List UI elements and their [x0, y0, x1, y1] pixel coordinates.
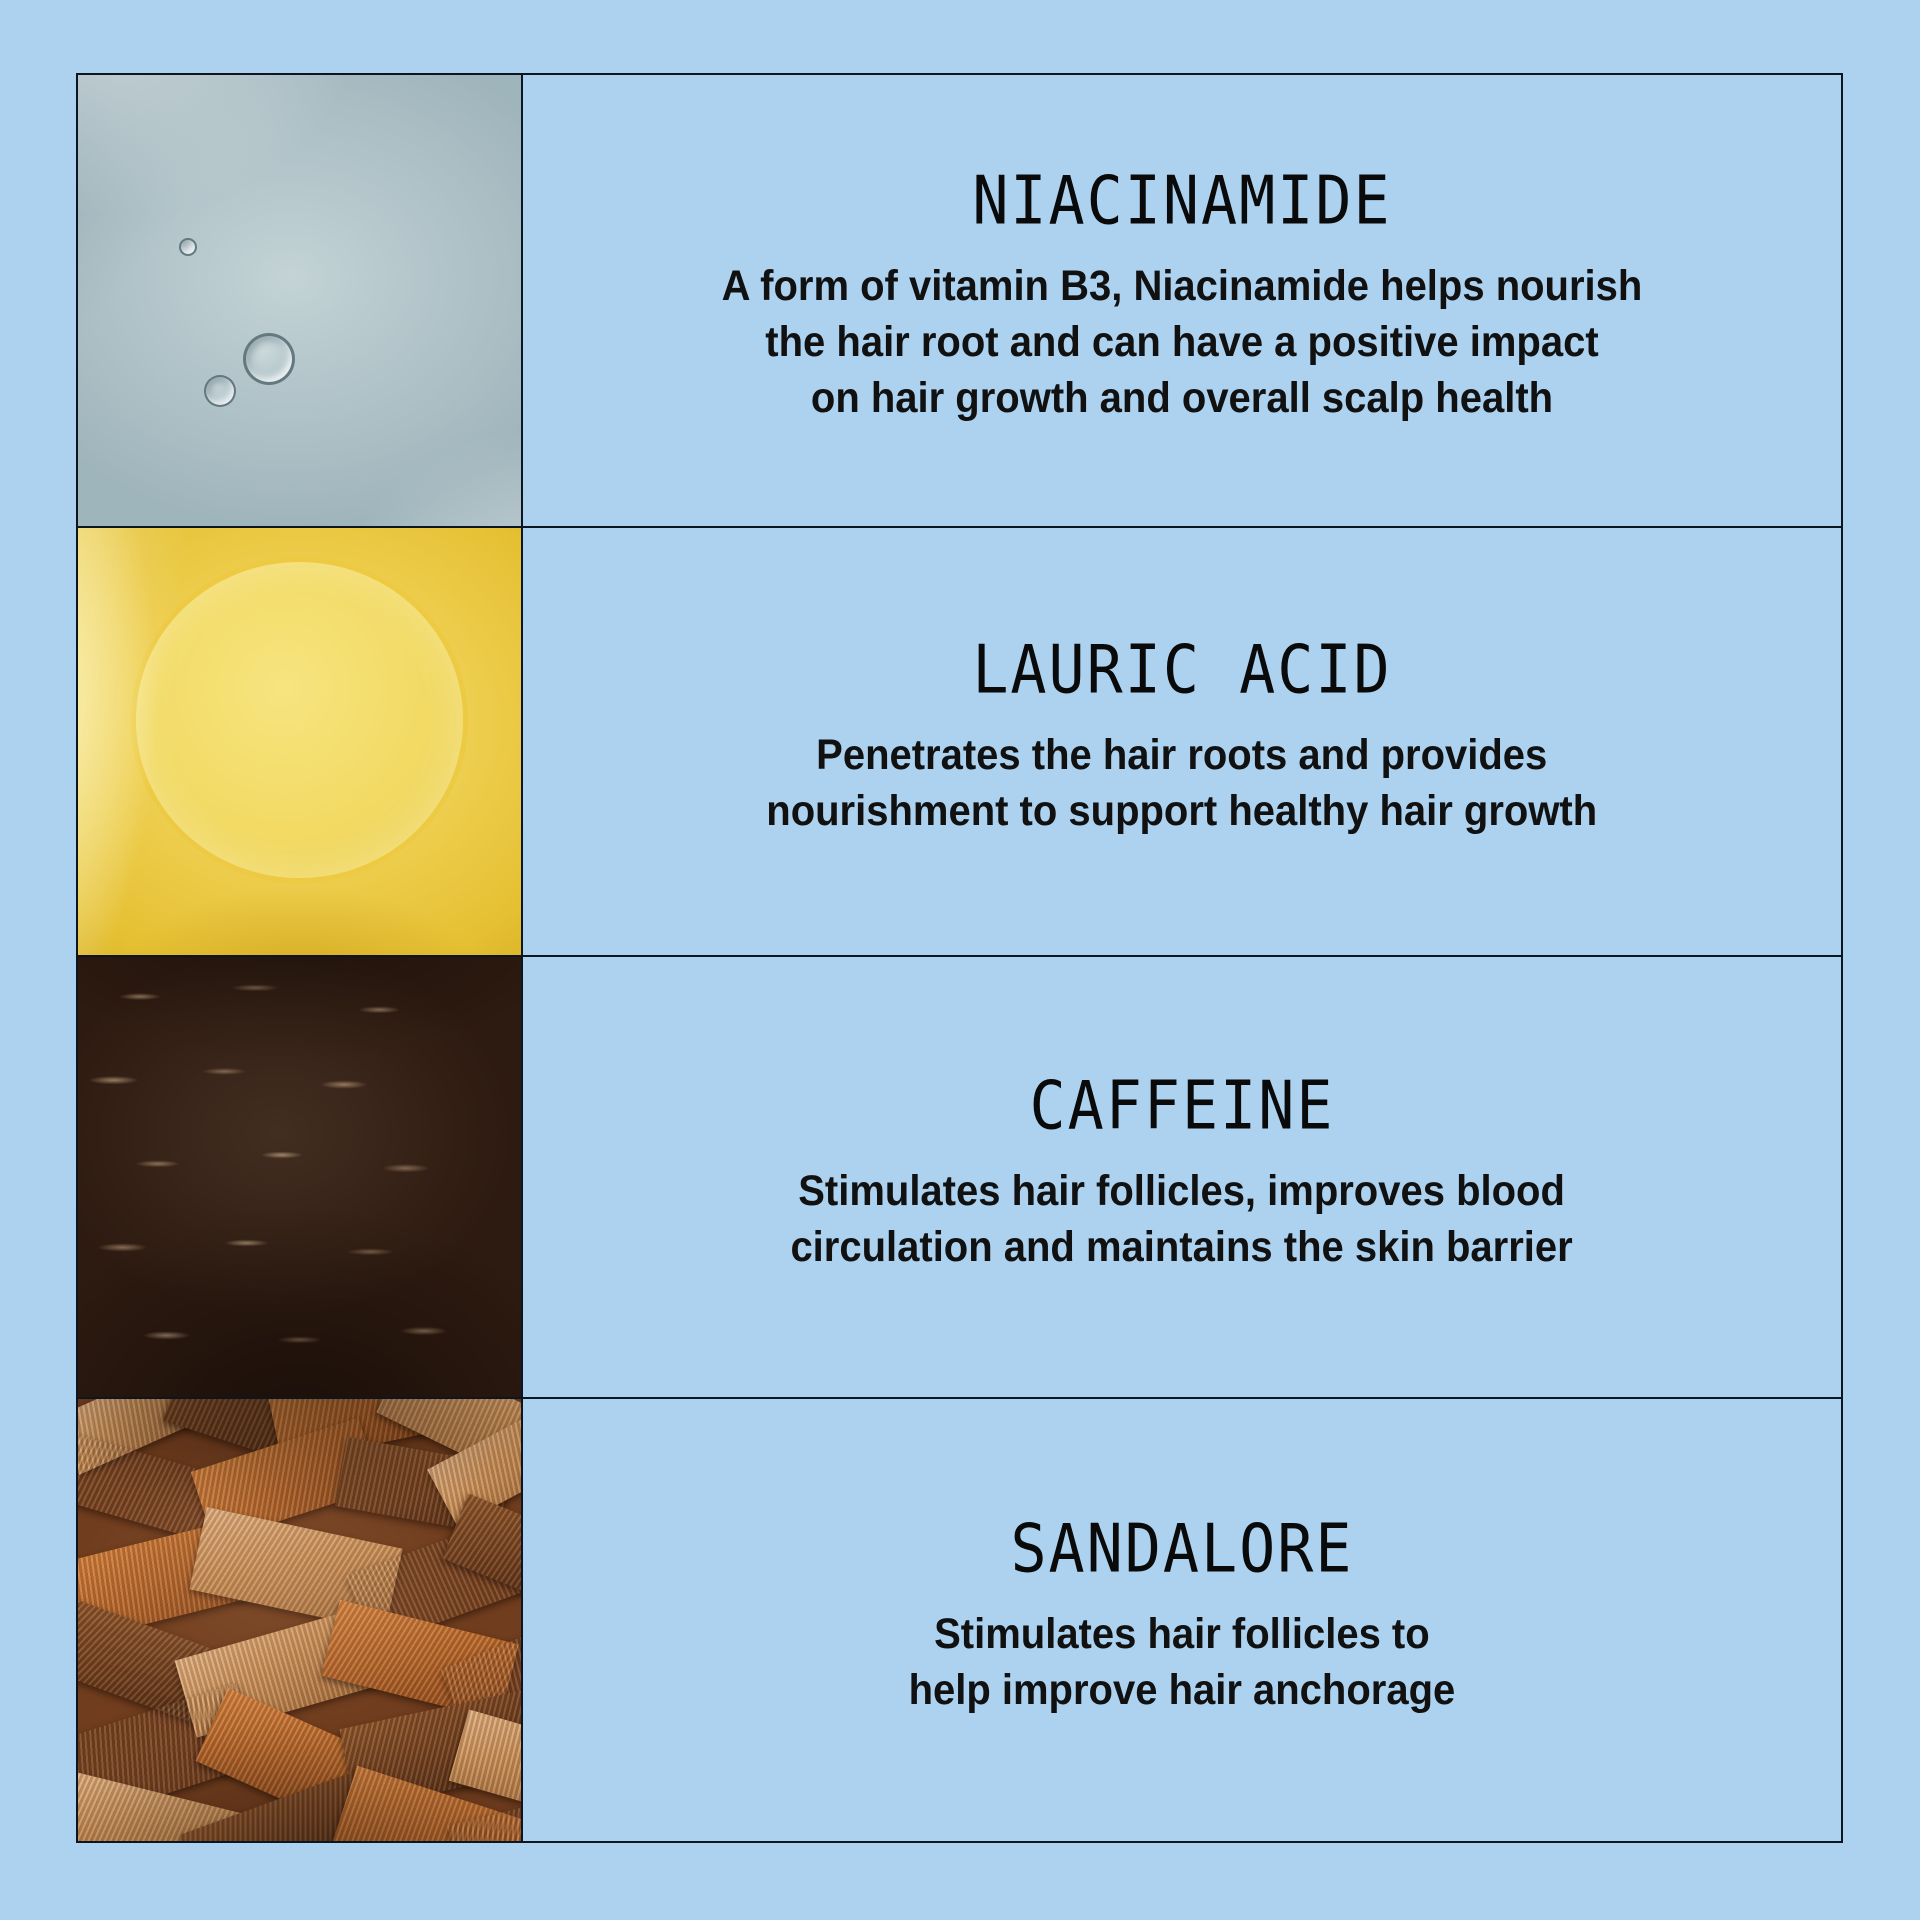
description-line: help improve hair anchorage: [909, 1663, 1456, 1719]
ingredient-title: CAFFEINE: [1030, 1071, 1335, 1142]
description-line: the hair root and can have a positive im…: [722, 315, 1643, 371]
ingredient-image-cell: [78, 528, 523, 955]
caffeine-coffee-beans-photo: [78, 957, 521, 1397]
ingredient-text-cell: SANDALORE Stimulates hair follicles to h…: [523, 1399, 1841, 1841]
ingredient-text-cell: LAURIC ACID Penetrates the hair roots an…: [523, 528, 1841, 955]
description-line: Stimulates hair follicles to: [909, 1607, 1456, 1663]
niacinamide-liquid-photo: [78, 75, 521, 526]
description-line: Penetrates the hair roots and provides: [767, 728, 1598, 784]
sandalore-sandalwood-chips-photo: [78, 1399, 521, 1841]
ingredient-row-lauric-acid: LAURIC ACID Penetrates the hair roots an…: [78, 528, 1841, 957]
description-line: on hair growth and overall scalp health: [722, 371, 1643, 427]
ingredient-title: LAURIC ACID: [972, 635, 1391, 706]
ingredient-description: Penetrates the hair roots and provides n…: [767, 728, 1598, 840]
ingredient-text-cell: NIACINAMIDE A form of vitamin B3, Niacin…: [523, 75, 1841, 526]
description-line: Stimulates hair follicles, improves bloo…: [791, 1164, 1573, 1220]
description-line: circulation and maintains the skin barri…: [791, 1220, 1573, 1276]
ingredient-description: Stimulates hair follicles, improves bloo…: [791, 1164, 1573, 1276]
lauric-acid-oil-photo: [78, 528, 521, 955]
ingredient-table: NIACINAMIDE A form of vitamin B3, Niacin…: [76, 73, 1843, 1843]
ingredient-description: Stimulates hair follicles to help improv…: [909, 1607, 1456, 1719]
ingredient-title: NIACINAMIDE: [972, 166, 1391, 237]
ingredient-image-cell: [78, 75, 523, 526]
ingredient-row-sandalore: SANDALORE Stimulates hair follicles to h…: [78, 1399, 1841, 1841]
bubble-icon: [243, 333, 295, 385]
description-line: A form of vitamin B3, Niacinamide helps …: [722, 259, 1643, 315]
ingredient-row-caffeine: CAFFEINE Stimulates hair follicles, impr…: [78, 957, 1841, 1399]
ingredient-image-cell: [78, 957, 523, 1397]
ingredient-description: A form of vitamin B3, Niacinamide helps …: [722, 259, 1643, 427]
ingredient-benefits-infographic: NIACINAMIDE A form of vitamin B3, Niacin…: [0, 0, 1920, 1920]
description-line: nourishment to support healthy hair grow…: [767, 784, 1598, 840]
ingredient-image-cell: [78, 1399, 523, 1841]
bubble-icon: [204, 375, 236, 407]
bubble-icon: [179, 238, 197, 256]
ingredient-title: SANDALORE: [1010, 1514, 1353, 1585]
ingredient-row-niacinamide: NIACINAMIDE A form of vitamin B3, Niacin…: [78, 75, 1841, 528]
ingredient-text-cell: CAFFEINE Stimulates hair follicles, impr…: [523, 957, 1841, 1397]
